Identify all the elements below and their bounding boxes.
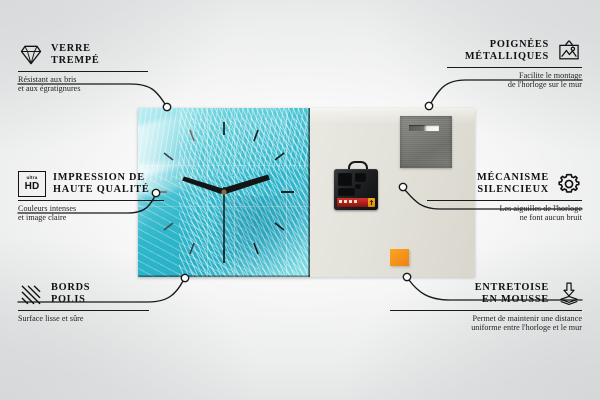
feature-desc-line2: et image claire	[18, 213, 168, 223]
feature-title-2: MÉTALLIQUES	[465, 51, 549, 63]
feature-impression-haute-qualite: ultra HD IMPRESSION DE HAUTE QUALITÉ Cou…	[18, 171, 168, 223]
gear-icon	[556, 171, 582, 197]
connector-endpoint-bords-polis	[181, 274, 188, 281]
feature-desc-line1: Couleurs intenses	[18, 204, 168, 214]
feature-title: BORDS	[51, 282, 90, 294]
feature-title-2: POLIS	[51, 294, 90, 306]
feature-desc-line1: Les aiguilles de l'horloge	[427, 204, 582, 214]
feature-desc-line2: et aux égratignures	[18, 84, 153, 94]
feature-verre-trempe: VERRE TREMPÉ Résistant aux bris et aux é…	[18, 42, 153, 94]
feature-title-2: HAUTE QUALITÉ	[53, 184, 149, 196]
feature-mecanisme-silencieux: MÉCANISME SILENCIEUX Les aiguilles de l'…	[427, 171, 582, 223]
arrow-down-onto-layers-icon	[556, 281, 582, 307]
feature-bords-polis: BORDS POLIS Surface lisse et sûre	[18, 281, 153, 323]
feature-desc-line1: Résistant aux bris	[18, 75, 153, 85]
feature-title-2: EN MOUSSE	[475, 294, 549, 306]
feature-divider	[18, 310, 149, 311]
feature-divider	[18, 71, 148, 72]
feature-divider	[18, 200, 164, 201]
connector-endpoint-entretoise	[403, 273, 410, 280]
connector-endpoint-verre-trempe	[163, 103, 170, 110]
feature-desc-line2: ne font aucun bruit	[427, 213, 582, 223]
connector-endpoint-poignees	[425, 102, 432, 109]
feature-title-2: TREMPÉ	[51, 55, 100, 67]
hanging-picture-frame-icon	[556, 38, 582, 64]
feature-desc-line1: Surface lisse et sûre	[18, 314, 153, 324]
feature-entretoise-en-mousse: ENTRETOISE EN MOUSSE Permet de maintenir…	[390, 281, 582, 333]
feature-title: VERRE	[51, 43, 100, 55]
feature-desc-line1: Facilite le montage	[447, 71, 582, 81]
feature-title: MÉCANISME	[477, 172, 549, 184]
ultra-hd-badge-icon: ultra HD	[18, 171, 46, 197]
feature-divider	[447, 67, 582, 68]
infographic-canvas: VERRE TREMPÉ Résistant aux bris et aux é…	[0, 0, 600, 400]
feature-title: IMPRESSION DE	[53, 172, 149, 184]
feature-desc-line1: Permet de maintenir une distance	[390, 314, 582, 324]
feature-poignees-metalliques: POIGNÉES MÉTALLIQUES Facilite le montage…	[447, 38, 582, 90]
diagonal-lines-icon	[18, 281, 44, 307]
feature-desc-line2: uniforme entre l'horloge et le mur	[390, 323, 582, 333]
feature-title: POIGNÉES	[465, 39, 549, 51]
feature-divider	[427, 200, 582, 201]
badge-hd-label: HD	[25, 182, 40, 192]
connector-endpoint-mecanisme	[399, 183, 406, 190]
feature-title: ENTRETOISE	[475, 282, 549, 294]
feature-divider	[390, 310, 582, 311]
feature-title-2: SILENCIEUX	[477, 184, 549, 196]
diamond-icon	[18, 42, 44, 68]
feature-desc-line2: de l'horloge sur le mur	[447, 80, 582, 90]
